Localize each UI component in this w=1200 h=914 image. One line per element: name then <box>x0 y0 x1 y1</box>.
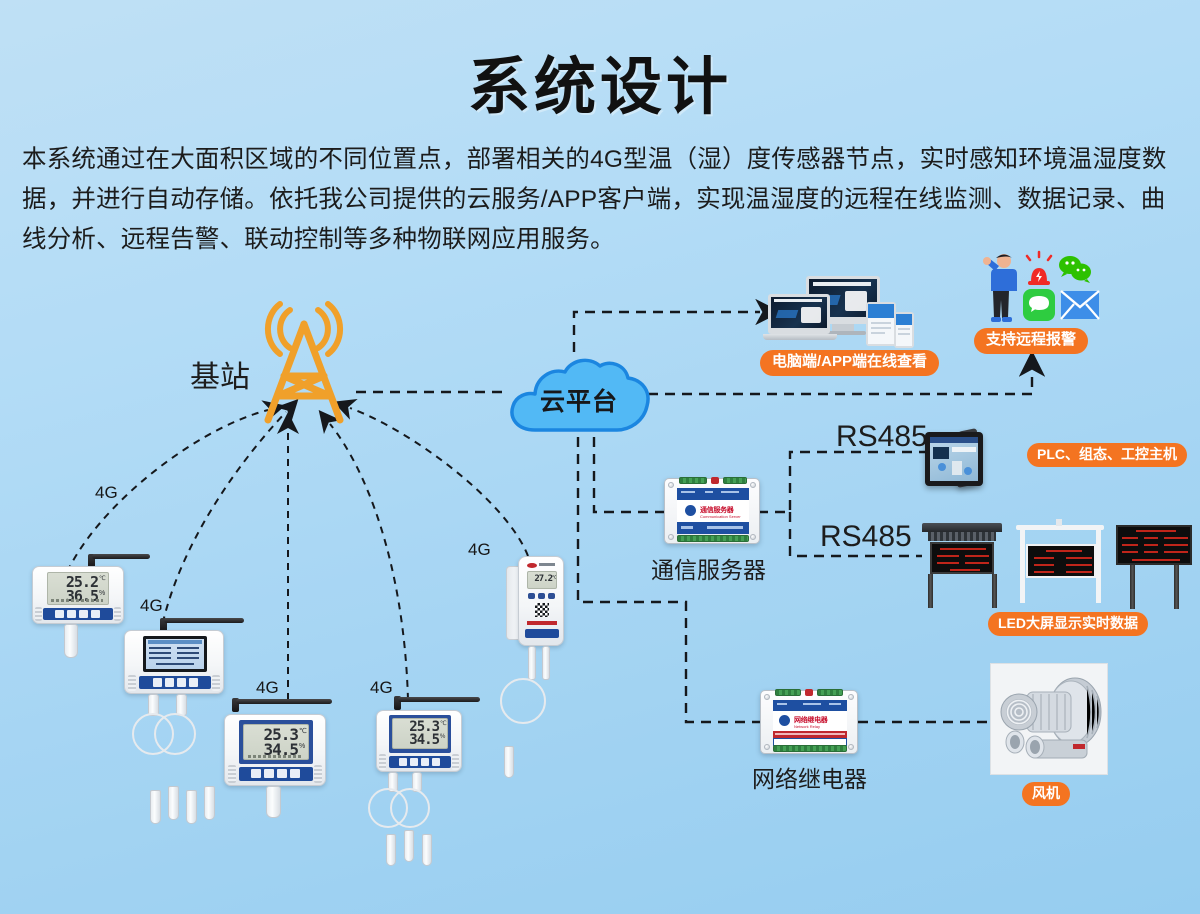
network-relay-brand-en: Network Relay <box>794 724 820 729</box>
sensor-4-humidity: 34.5 <box>397 733 439 747</box>
blower-fan-icon <box>991 664 1109 776</box>
cloud-platform[interactable]: 云平台 <box>505 352 653 436</box>
person-icon <box>982 252 1022 324</box>
link-label-4g-5: 4G <box>468 540 491 560</box>
hmi-touch-panel <box>925 428 1011 490</box>
sensor-3-hum-unit: % <box>299 743 305 750</box>
communication-server-device: 通信服务器 Communication Server <box>664 478 760 544</box>
led-display-boards <box>920 515 1195 615</box>
badge-pc-app-label: 电脑端/APP端在线查看 <box>760 350 939 376</box>
link-label-4g-2: 4G <box>140 596 163 616</box>
sensor-5-temperature: 27.2 <box>530 575 552 584</box>
sensor-1-temp-unit: ℃ <box>99 575 106 582</box>
rs485-label-bottom: RS485 <box>820 520 912 554</box>
blower-fan-image <box>990 663 1108 775</box>
sensor-4: 25.3 ℃ 34.5 % <box>348 688 508 878</box>
comm-server-brand-en: Communication Server <box>700 514 741 519</box>
link-label-4g-3: 4G <box>256 678 279 698</box>
email-envelope-icon <box>1060 290 1100 320</box>
badge-remote-alarm-label: 支持远程报警 <box>974 328 1088 354</box>
badge-led-screen-label: LED大屏显示实时数据 <box>988 612 1148 636</box>
network-relay-label: 网络继电器 <box>752 760 867 794</box>
sensor-4-temp-unit: ℃ <box>440 720 447 727</box>
badge-plc-label: PLC、组态、工控主机 <box>1027 443 1187 467</box>
tablet-icon <box>866 302 896 346</box>
sensor-4-hum-unit: % <box>440 734 445 740</box>
badge-plc: PLC、组态、工控主机 <box>1027 443 1187 467</box>
remote-alarm-group <box>982 252 1092 324</box>
network-relay-device: 网络继电器 Network Relay <box>760 690 858 754</box>
laptop-icon <box>768 294 830 334</box>
rs485-label-top: RS485 <box>836 420 928 454</box>
sensor-5: 27.2 ℃ <box>498 548 608 798</box>
badge-fan-label: 风机 <box>1022 782 1070 806</box>
badge-led-screen: LED大屏显示实时数据 <box>988 612 1148 636</box>
communication-server-label: 通信服务器 <box>651 551 766 585</box>
smartphone-icon <box>894 312 914 348</box>
sensor-5-temp-unit: ℃ <box>552 575 557 581</box>
base-station-label: 基站 <box>190 352 250 396</box>
sensor-3-temp-unit: ℃ <box>299 727 307 735</box>
badge-remote-alarm: 支持远程报警 <box>974 328 1088 354</box>
base-station-tower <box>248 300 360 425</box>
link-label-4g-4: 4G <box>370 678 393 698</box>
badge-pc-app: 电脑端/APP端在线查看 <box>760 350 939 376</box>
sms-bubble-icon <box>1022 288 1056 322</box>
badge-fan: 风机 <box>1022 782 1070 806</box>
cloud-platform-label: 云平台 <box>505 382 653 418</box>
sensor-1-hum-unit: % <box>99 590 105 597</box>
diagram-canvas: 系统设计 本系统通过在大面积区域的不同位置点，部署相关的4G型温（湿）度传感器节… <box>0 0 1200 914</box>
wechat-icon <box>1058 254 1092 284</box>
alarm-siren-icon <box>1022 252 1056 286</box>
client-devices-cluster <box>768 276 918 348</box>
link-label-4g-1: 4G <box>95 483 118 503</box>
